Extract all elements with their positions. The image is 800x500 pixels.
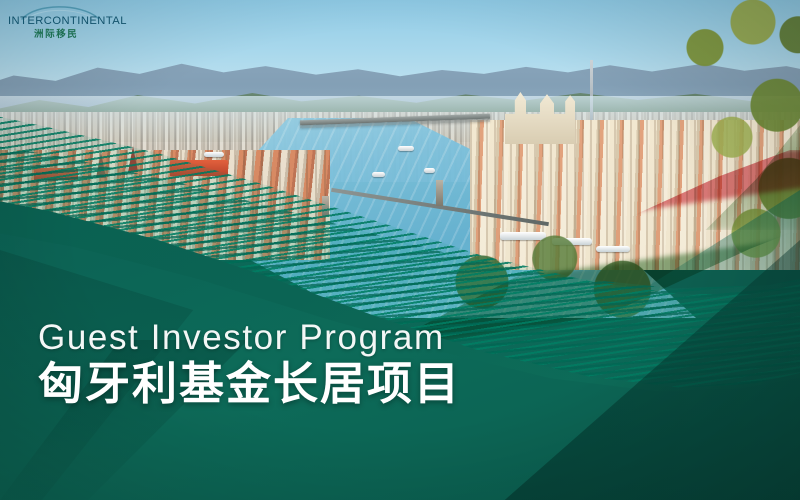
river-boat	[372, 172, 385, 177]
bridge-pylon	[436, 180, 443, 206]
headline-chinese: 匈牙利基金长居项目	[38, 360, 461, 409]
river-boat	[424, 168, 435, 173]
hero-banner: INTERCONTINENTAL 洲际移民 Guest Investor Pro…	[0, 0, 800, 500]
river-boat	[204, 152, 224, 157]
headline-english: Guest Investor Program	[38, 318, 461, 357]
river-boat	[398, 146, 414, 151]
headline-block: Guest Investor Program 匈牙利基金长居项目	[38, 318, 461, 409]
brand-logo[interactable]: INTERCONTINENTAL 洲际移民	[6, 4, 124, 42]
logo-chinese-name: 洲际移民	[34, 26, 78, 40]
